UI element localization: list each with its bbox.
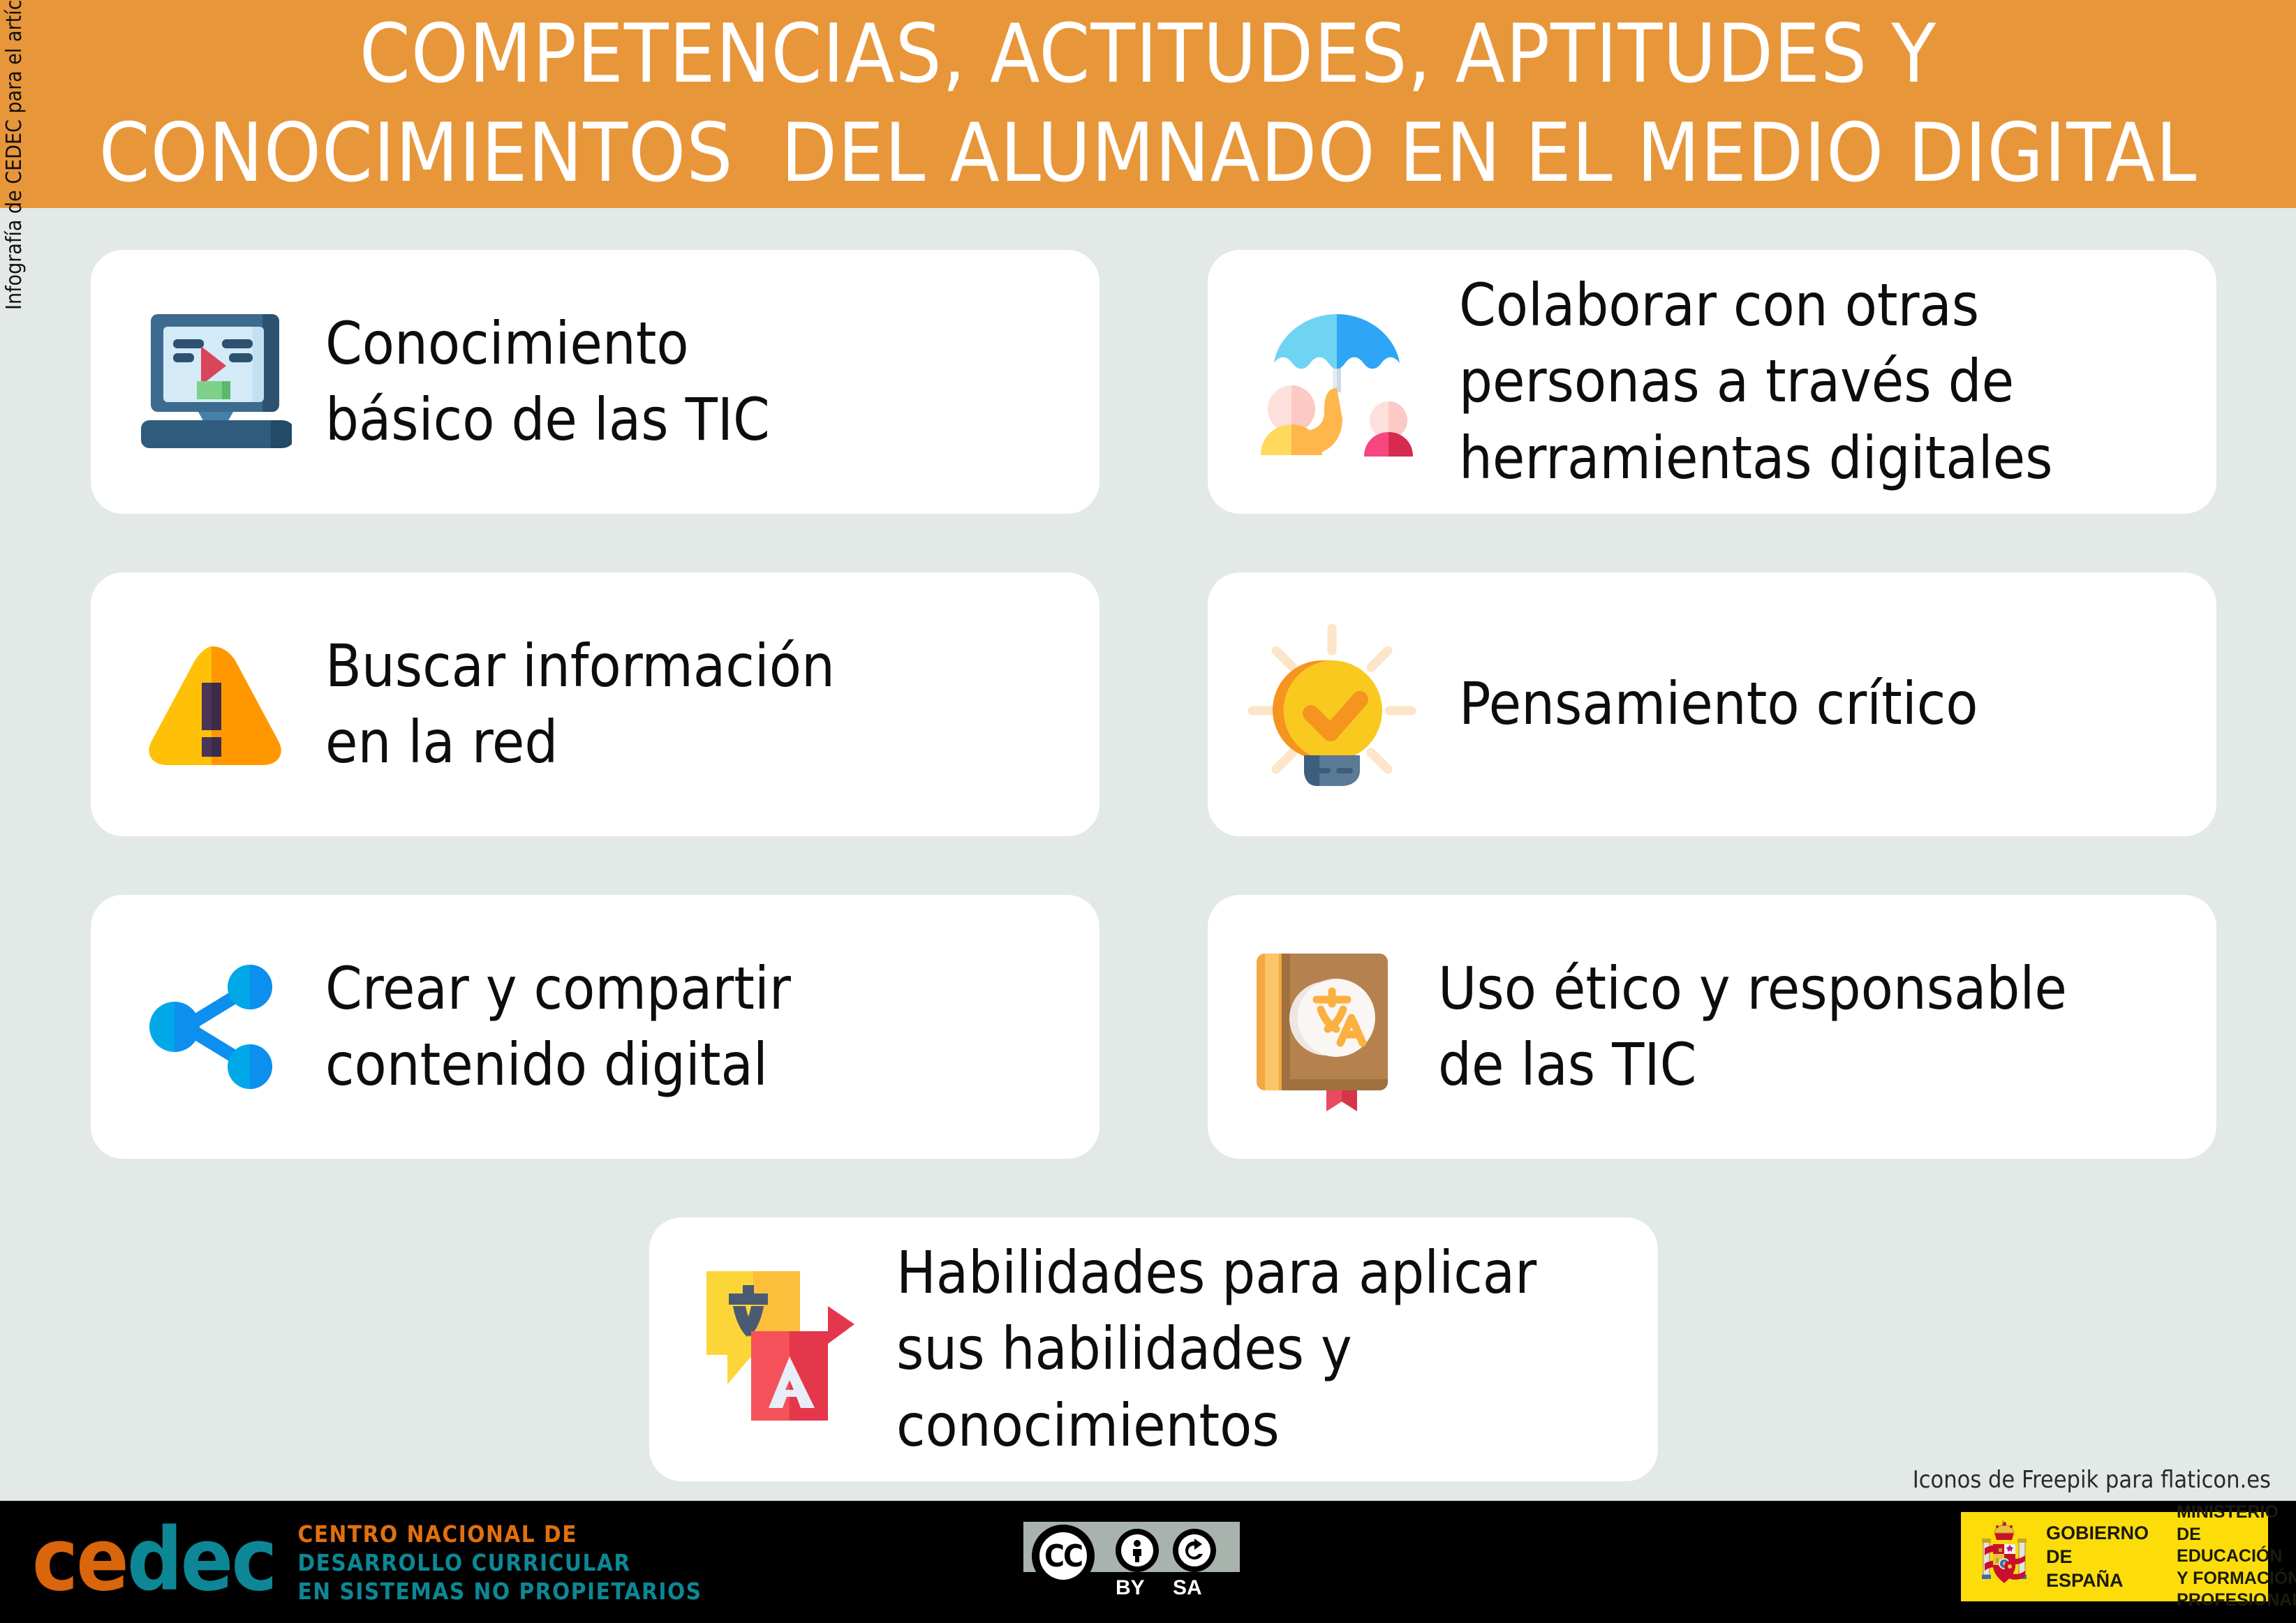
card-label: Conocimiento básico de las TIC bbox=[325, 306, 770, 458]
cedec-logo[interactable]: cedec CENTRO NACIONAL DE DESARROLLO CURR… bbox=[32, 1515, 702, 1606]
umbrella-people-icon bbox=[1237, 295, 1432, 469]
page-header: COMPETENCIAS, ACTITUDES, APTITUDES Y CON… bbox=[0, 0, 2296, 208]
cc-by-person-icon bbox=[1116, 1529, 1159, 1572]
cedec-tagline-line-2: DESARROLLO CURRICULAR bbox=[297, 1549, 702, 1578]
cc-by-label: BY bbox=[1116, 1576, 1145, 1600]
dictionary-book-icon bbox=[1237, 940, 1412, 1114]
laptop-video-icon bbox=[131, 309, 292, 455]
page-footer: cedec CENTRO NACIONAL DE DESARROLLO CURR… bbox=[0, 1501, 2296, 1623]
cedec-wordmark-ce: ce bbox=[32, 1510, 127, 1610]
translate-bubbles-icon bbox=[690, 1259, 864, 1440]
card-pensamiento-critico[interactable]: Pensamiento crítico bbox=[1208, 572, 2216, 836]
cc-icon: CC bbox=[1032, 1525, 1095, 1587]
cedec-wordmark: cedec bbox=[32, 1517, 275, 1603]
card-label: Colaborar con otras personas a través de… bbox=[1459, 267, 2052, 496]
card-label: Pensamiento crítico bbox=[1459, 666, 1978, 742]
card-crear-compartir[interactable]: Crear y compartir contenido digital bbox=[91, 895, 1099, 1159]
card-label: Buscar información en la red bbox=[325, 628, 835, 780]
header-title-line-1: COMPETENCIAS, ACTITUDES, APTITUDES Y bbox=[360, 5, 1936, 104]
card-label: Habilidades para aplicar sus habilidades… bbox=[896, 1235, 1536, 1464]
cc-sa-label: SA bbox=[1173, 1576, 1202, 1600]
government-of-spain-logo[interactable]: GOBIERNO DE ESPAÑA MINISTERIO DE EDUCACI… bbox=[1961, 1512, 2268, 1601]
card-conocimiento-basico-tic[interactable]: Conocimiento básico de las TIC bbox=[91, 250, 1099, 514]
cedec-tagline-line-3: EN SISTEMAS NO PROPIETARIOS bbox=[297, 1578, 702, 1606]
source-caption: Infografía de CEDEC para el artículo "Ne… bbox=[0, 0, 30, 310]
creative-commons-license[interactable]: CC BY SA bbox=[1023, 1522, 1240, 1604]
warning-triangle-icon bbox=[131, 631, 292, 778]
header-title-line-2: CONOCIMIENTOS DEL ALUMNADO EN EL MEDIO D… bbox=[99, 104, 2197, 203]
ministerio-label: MINISTERIO DE EDUCACIÓN Y FORMACIÓN PROF… bbox=[2177, 1502, 2296, 1612]
card-habilidades-para-aplicar[interactable]: Habilidades para aplicar sus habilidades… bbox=[649, 1217, 1658, 1481]
share-nodes-icon bbox=[131, 954, 292, 1100]
cc-sa-share-alike-icon bbox=[1173, 1529, 1216, 1572]
cedec-tagline-line-1: CENTRO NACIONAL DE bbox=[297, 1520, 702, 1549]
gobierno-de-espana-label: GOBIERNO DE ESPAÑA bbox=[2046, 1521, 2149, 1592]
card-label: Crear y compartir contenido digital bbox=[325, 951, 791, 1103]
icon-credit: Iconos de Freepik para flaticon.es bbox=[1913, 1466, 2271, 1494]
card-colaborar-con-otras-personas[interactable]: Colaborar con otras personas a través de… bbox=[1208, 250, 2216, 514]
card-buscar-informacion[interactable]: Buscar información en la red bbox=[91, 572, 1099, 836]
lightbulb-check-icon bbox=[1237, 617, 1425, 792]
cedec-wordmark-dec: dec bbox=[127, 1510, 276, 1610]
spain-coat-of-arms-icon bbox=[1978, 1520, 2031, 1593]
card-label: Uso ético y responsable de las TIC bbox=[1438, 951, 2067, 1103]
cedec-tagline: CENTRO NACIONAL DE DESARROLLO CURRICULAR… bbox=[297, 1515, 702, 1606]
card-uso-etico-responsable[interactable]: Uso ético y responsable de las TIC bbox=[1208, 895, 2216, 1159]
